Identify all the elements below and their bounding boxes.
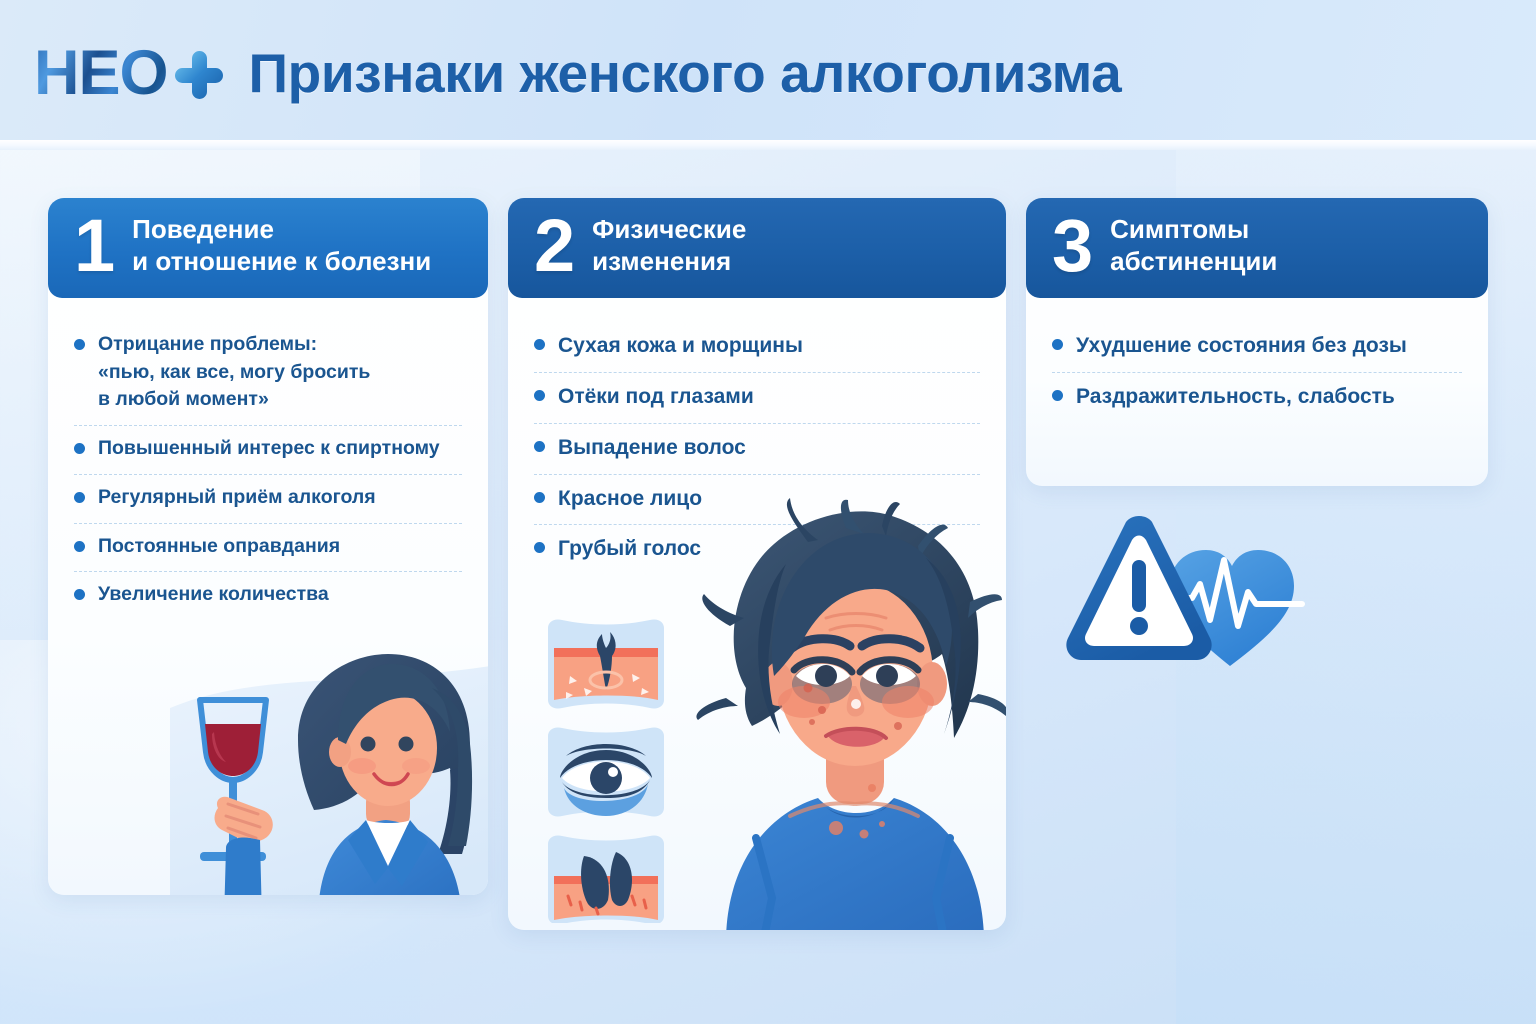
card-withdrawal-symptoms: 3 Симптомы абстиненции Ухудшение состоян… — [1026, 198, 1488, 486]
list-item-label: Сухая кожа и морщины — [558, 331, 803, 361]
card-title: Симптомы абстиненции — [1110, 214, 1277, 277]
list-item: Красное лицо — [534, 475, 980, 526]
list-item: Повышенный интерес к спиртному — [74, 426, 462, 475]
bullet-dot-icon — [74, 339, 85, 350]
list-item: Постоянные оправдания — [74, 524, 462, 573]
card-title: Физические изменения — [592, 214, 746, 277]
card-behaviour: 1 Поведение и отношение к болезни Отрица… — [48, 198, 488, 895]
symptom-list: Сухая кожа и морщины Отёки под глазами В… — [534, 322, 980, 575]
list-item-label: Постоянные оправдания — [98, 533, 340, 561]
card-physical-changes: 2 Физические изменения Сухая кожа и морщ… — [508, 198, 1006, 930]
list-item-label: Повышенный интерес к спиртному — [98, 435, 440, 463]
card-title-line2: абстиненции — [1110, 246, 1277, 278]
card-number: 3 — [1052, 212, 1090, 280]
page-title: Признаки женского алкоголизма — [249, 41, 1122, 105]
list-item: Регулярный приём алкоголя — [74, 475, 462, 524]
plus-icon — [175, 51, 223, 99]
cards-row: 1 Поведение и отношение к болезни Отрица… — [0, 198, 1536, 958]
card-physical-changes-body: Сухая кожа и морщины Отёки под глазами В… — [508, 298, 1006, 575]
page-header: НЕО Признаки женского алкоголизма — [0, 0, 1536, 146]
bullet-dot-icon — [74, 541, 85, 552]
list-item: Выпадение волос — [534, 424, 980, 475]
bullet-dot-icon — [534, 492, 545, 503]
list-item-label: Регулярный приём алкоголя — [98, 484, 376, 512]
bullet-dot-icon — [74, 492, 85, 503]
list-item: Отёки под глазами — [534, 373, 980, 424]
card-behaviour-body: Отрицание проблемы: «пью, как все, могу … — [48, 298, 488, 620]
card-title-line1: Физические — [592, 214, 746, 244]
list-item-label: Выпадение волос — [558, 433, 746, 463]
list-item-label: Отрицание проблемы: «пью, как все, могу … — [98, 331, 370, 414]
list-item: Сухая кожа и морщины — [534, 322, 980, 373]
list-item-label: Отёки под глазами — [558, 382, 754, 412]
card-withdrawal-symptoms-body: Ухудшение состояния без дозы Раздражител… — [1026, 298, 1488, 423]
bullet-dot-icon — [74, 589, 85, 600]
card-title-line2: и отношение к болезни — [132, 246, 431, 278]
card-title-line2: изменения — [592, 246, 746, 278]
list-item: Отрицание проблемы: «пью, как все, могу … — [74, 322, 462, 426]
card-title-line1: Поведение — [132, 214, 274, 244]
card-title: Поведение и отношение к болезни — [132, 214, 431, 277]
list-item-label: Ухудшение состояния без дозы — [1076, 331, 1407, 361]
card-number: 2 — [534, 212, 572, 280]
list-item-label: Раздражительность, слабость — [1076, 382, 1395, 412]
list-item-label: Увеличение количества — [98, 581, 329, 609]
symptom-list: Ухудшение состояния без дозы Раздражител… — [1052, 322, 1462, 423]
list-item: Увеличение количества — [74, 572, 462, 620]
bullet-dot-icon — [534, 441, 545, 452]
bullet-dot-icon — [534, 542, 545, 553]
bullet-dot-icon — [74, 443, 85, 454]
bullet-dot-icon — [1052, 339, 1063, 350]
card-title-line1: Симптомы — [1110, 214, 1249, 244]
bullet-dot-icon — [534, 339, 545, 350]
card-behaviour-header: 1 Поведение и отношение к болезни — [48, 198, 488, 298]
card-physical-changes-header: 2 Физические изменения — [508, 198, 1006, 298]
list-item: Раздражительность, слабость — [1052, 373, 1462, 423]
symptom-list: Отрицание проблемы: «пью, как все, могу … — [74, 322, 462, 620]
bullet-dot-icon — [534, 390, 545, 401]
list-item: Ухудшение состояния без дозы — [1052, 322, 1462, 373]
list-item: Грубый голос — [534, 525, 980, 575]
card-number: 1 — [74, 212, 112, 280]
brand-logo-text: НЕО — [34, 42, 168, 105]
header-divider — [0, 140, 1536, 150]
card-withdrawal-symptoms-header: 3 Симптомы абстиненции — [1026, 198, 1488, 298]
list-item-label: Красное лицо — [558, 484, 702, 514]
list-item-label: Грубый голос — [558, 534, 701, 564]
brand-logo: НЕО — [34, 42, 223, 105]
bullet-dot-icon — [1052, 390, 1063, 401]
